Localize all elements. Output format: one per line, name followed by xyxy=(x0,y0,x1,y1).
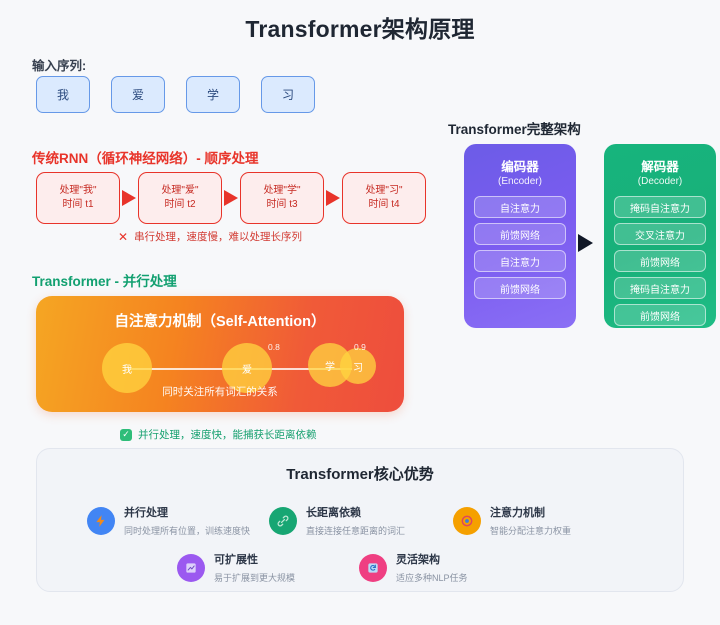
decoder-layer: 掩码自注意力 xyxy=(614,277,706,299)
rnn-step-line1: 处理"我" xyxy=(59,185,96,198)
advantage-item-long-range: 长距离依赖 直接连接任意距离的词汇 xyxy=(269,503,405,539)
advantage-heading: 并行处理 xyxy=(124,507,168,519)
rnn-step-line1: 处理"学" xyxy=(263,185,300,198)
decoder-layer-list: 掩码自注意力 交叉注意力 前馈网络 掩码自注意力 前馈网络 xyxy=(614,196,706,326)
decoder-subtitle: (Decoder) xyxy=(638,176,682,187)
transformer-section-title: Transformer - 并行处理 xyxy=(32,270,177,290)
attention-weight-label: 0.9 xyxy=(354,342,366,352)
page-title: Transformer架构原理 xyxy=(0,10,720,44)
encoder-subtitle: (Encoder) xyxy=(498,176,542,187)
encoder-panel: 编码器 (Encoder) 自注意力 前馈网络 自注意力 前馈网络 xyxy=(464,144,576,328)
rnn-note-text: 串行处理，速度慢，难以处理长序列 xyxy=(134,229,302,244)
advantage-item-scalability: 可扩展性 易于扩展到更大规模 xyxy=(177,550,295,586)
right-arrow-icon xyxy=(224,190,238,206)
advantage-item-flexible: 灵活架构 适应多种NLP任务 xyxy=(359,550,468,586)
advantage-sub: 直接连接任意距离的词汇 xyxy=(306,526,405,536)
rnn-step-box: 处理"学" 时间 t3 xyxy=(240,172,324,224)
transformer-benefit-note: ✓ 并行处理，速度快，能捕获长距离依赖 xyxy=(120,427,317,442)
encoder-title: 编码器 xyxy=(501,156,539,175)
rnn-step-line1: 处理"爱" xyxy=(161,185,198,198)
decoder-layer: 前馈网络 xyxy=(614,250,706,272)
advantages-card: Transformer核心优势 并行处理 同时处理所有位置，训练速度快 长距离依… xyxy=(36,448,684,592)
rnn-step-box: 处理"我" 时间 t1 xyxy=(36,172,120,224)
advantage-text: 灵活架构 适应多种NLP任务 xyxy=(396,550,468,586)
encoder-layer: 前馈网络 xyxy=(474,277,566,299)
input-sequence-row: 我 爱 学 习 xyxy=(36,76,315,113)
rnn-step-line2: 时间 t3 xyxy=(266,199,297,212)
advantage-sub: 同时处理所有位置，训练速度快 xyxy=(124,526,250,536)
advantages-title: Transformer核心优势 xyxy=(37,463,683,484)
rnn-step-line2: 时间 t4 xyxy=(368,199,399,212)
lightning-icon xyxy=(87,507,115,535)
advantage-text: 并行处理 同时处理所有位置，训练速度快 xyxy=(124,503,250,539)
advantage-sub: 智能分配注意力权重 xyxy=(490,526,571,536)
decoder-layer: 前馈网络 xyxy=(614,304,706,326)
encoder-layer: 自注意力 xyxy=(474,196,566,218)
advantage-heading: 注意力机制 xyxy=(490,507,545,519)
decoder-title: 解码器 xyxy=(641,156,679,175)
advantage-text: 注意力机制 智能分配注意力权重 xyxy=(490,503,571,539)
self-attention-caption: 同时关注所有词汇的关系 xyxy=(36,384,404,399)
advantage-heading: 可扩展性 xyxy=(214,554,258,566)
advantage-text: 长距离依赖 直接连接任意距离的词汇 xyxy=(306,503,405,539)
right-arrow-icon xyxy=(122,190,136,206)
chart-up-icon xyxy=(177,554,205,582)
rnn-step-line2: 时间 t1 xyxy=(62,199,93,212)
input-token[interactable]: 我 xyxy=(36,76,90,113)
advantage-heading: 灵活架构 xyxy=(396,554,440,566)
self-attention-card: 自注意力机制（Self-Attention） 我 爱 学 习 0.8 0.9 同… xyxy=(36,296,404,412)
target-icon xyxy=(453,507,481,535)
cross-icon: ✕ xyxy=(118,231,128,243)
page-root: Transformer架构原理 输入序列: 我 爱 学 习 传统RNN（循环神经… xyxy=(0,0,720,625)
right-arrow-icon xyxy=(326,190,340,206)
advantage-item-attention: 注意力机制 智能分配注意力权重 xyxy=(453,503,571,539)
rnn-drawback-note: ✕ 串行处理，速度慢，难以处理长序列 xyxy=(118,229,302,244)
decoder-layer: 掩码自注意力 xyxy=(614,196,706,218)
attention-node: 习 xyxy=(340,348,376,384)
advantage-sub: 适应多种NLP任务 xyxy=(396,573,468,583)
decoder-layer: 交叉注意力 xyxy=(614,223,706,245)
advantage-item-parallel: 并行处理 同时处理所有位置，训练速度快 xyxy=(87,503,250,539)
input-token[interactable]: 爱 xyxy=(111,76,165,113)
right-arrow-icon xyxy=(578,234,593,252)
transformer-note-text: 并行处理，速度快，能捕获长距离依赖 xyxy=(138,427,317,442)
encoder-layer: 前馈网络 xyxy=(474,223,566,245)
decoder-panel: 解码器 (Decoder) 掩码自注意力 交叉注意力 前馈网络 掩码自注意力 前… xyxy=(604,144,716,328)
refresh-icon xyxy=(359,554,387,582)
advantage-text: 可扩展性 易于扩展到更大规模 xyxy=(214,550,295,586)
rnn-steps-row: 处理"我" 时间 t1 处理"爱" 时间 t2 处理"学" 时间 t3 处理"习… xyxy=(36,172,426,224)
input-token[interactable]: 学 xyxy=(186,76,240,113)
rnn-step-line1: 处理"习" xyxy=(365,185,402,198)
check-icon: ✓ xyxy=(120,429,132,441)
advantage-heading: 长距离依赖 xyxy=(306,507,361,519)
encoder-layer: 自注意力 xyxy=(474,250,566,272)
advantage-sub: 易于扩展到更大规模 xyxy=(214,573,295,583)
rnn-step-box: 处理"习" 时间 t4 xyxy=(342,172,426,224)
rnn-section-title: 传统RNN（循环神经网络）- 顺序处理 xyxy=(32,147,259,167)
rnn-step-box: 处理"爱" 时间 t2 xyxy=(138,172,222,224)
input-token[interactable]: 习 xyxy=(261,76,315,113)
attention-weight-label: 0.8 xyxy=(268,342,280,352)
input-sequence-label: 输入序列: xyxy=(32,55,86,74)
architecture-section-title: Transformer完整架构 xyxy=(448,118,581,138)
encoder-layer-list: 自注意力 前馈网络 自注意力 前馈网络 xyxy=(474,196,566,299)
link-icon xyxy=(269,507,297,535)
rnn-step-line2: 时间 t2 xyxy=(164,199,195,212)
